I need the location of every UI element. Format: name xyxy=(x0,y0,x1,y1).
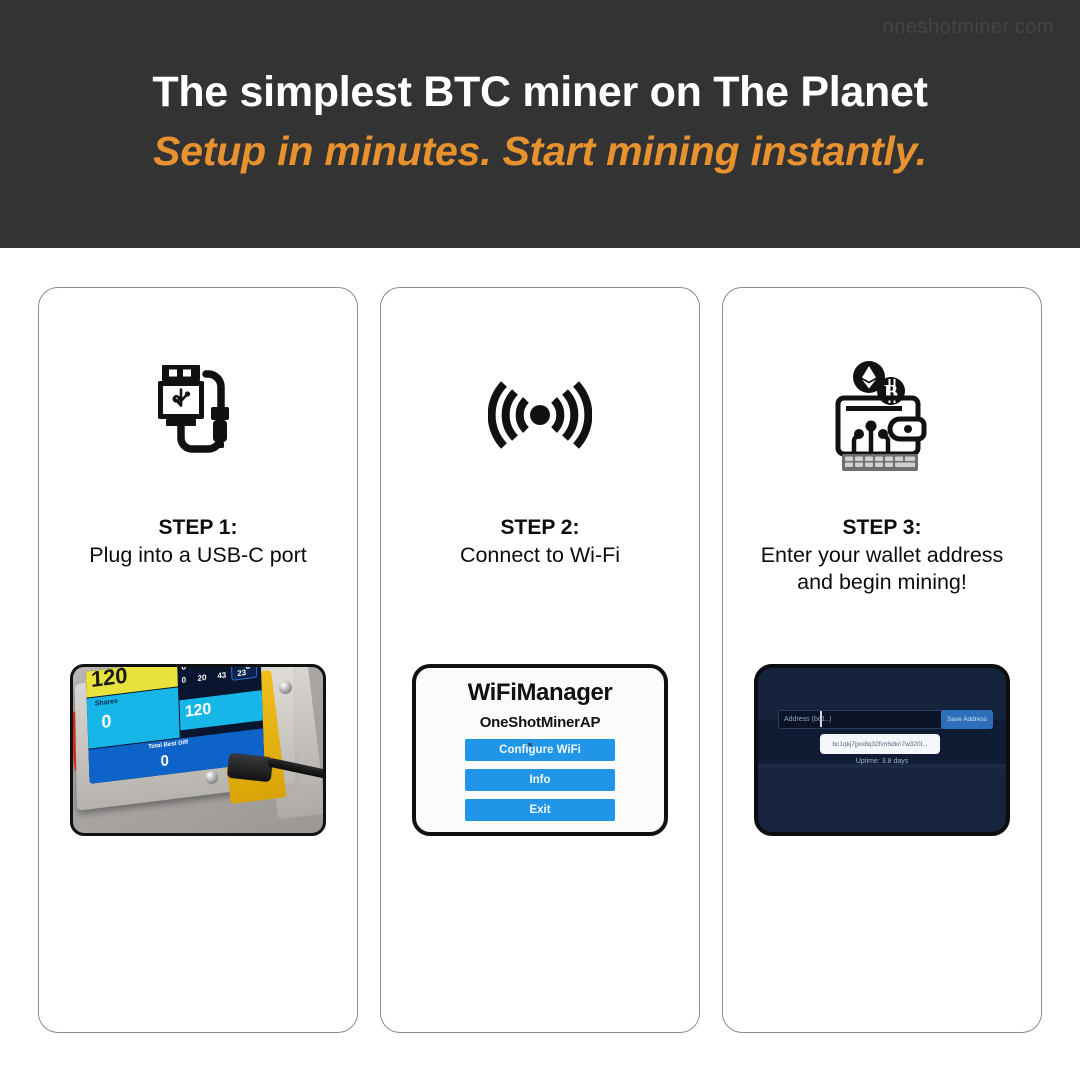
crypto-wallet-keyboard-icon: B xyxy=(828,360,936,470)
info-button[interactable]: Info xyxy=(465,769,615,791)
info-label: Info xyxy=(529,774,550,786)
configure-wifi-label: Configure WiFi xyxy=(499,744,581,756)
lcd-hashrate-value: 120 xyxy=(91,664,128,693)
lcd-counter-2: 0 xyxy=(182,675,187,685)
lcd-bestdiff-top: 120 xyxy=(185,700,212,721)
lcd-counter-3: 20 xyxy=(197,673,206,683)
step-1-screenshot-wrap: 120 0 13 0 20 43 23 Shares 0 120 Total B… xyxy=(39,664,357,836)
wifi-broadcast-icon xyxy=(488,360,592,470)
usb-c-plug xyxy=(227,753,273,782)
wallet-address-input[interactable]: Address (bc1..) xyxy=(778,710,948,729)
lcd-counter-0: 0 xyxy=(181,664,186,672)
step-2-description: Connect to Wi-Fi xyxy=(415,542,665,570)
address-autocomplete-tooltip[interactable]: bc1qkj7jjxv8q32fvn6dkn7w320l... xyxy=(820,734,940,754)
step-3-description: Enter your wallet address and begin mini… xyxy=(757,542,1007,597)
steps-container: STEP 1: Plug into a USB-C port xyxy=(38,287,1042,1033)
step-card-1: STEP 1: Plug into a USB-C port xyxy=(38,287,358,1033)
uptime-status: Uptime: 3.8 days xyxy=(758,758,1006,765)
lcd-counter-4: 43 xyxy=(217,670,226,680)
address-suggestion-text: bc1qkj7jjxv8q32fvn6dkn7w320l... xyxy=(832,741,927,748)
keyboard-icon xyxy=(842,454,918,471)
save-address-button[interactable]: Save Address xyxy=(941,710,993,729)
miner-device-photo: 120 0 13 0 20 43 23 Shares 0 120 Total B… xyxy=(70,664,326,836)
text-caret-icon xyxy=(820,711,822,727)
page-subtitle: Setup in minutes. Start mining instantly… xyxy=(0,128,1080,175)
lcd-counter-1: 13 xyxy=(209,664,218,666)
step-2-text: STEP 2: Connect to Wi-Fi xyxy=(415,515,665,569)
device-screw-top xyxy=(279,681,292,694)
step-1-description: Plug into a USB-C port xyxy=(73,542,323,570)
step-3-label: STEP 3: xyxy=(757,515,1007,542)
wifimanager-title: WiFiManager xyxy=(468,679,613,707)
wallet-address-value: Address (bc1..) xyxy=(784,716,831,723)
configure-wifi-button[interactable]: Configure WiFi xyxy=(465,739,615,761)
step-1-label: STEP 1: xyxy=(73,515,323,542)
save-address-label: Save Address xyxy=(947,716,987,723)
lcd-status-value: 0 xyxy=(245,664,251,672)
lcd-bestdiff-value: 0 xyxy=(160,752,169,770)
step-3-screenshot-wrap: Address (bc1..) Save Address bc1qkj7jjxv… xyxy=(723,664,1041,836)
step-2-label: STEP 2: xyxy=(415,515,665,542)
site-watermark: oneshotminer.com xyxy=(883,16,1054,39)
header-banner: oneshotminer.com The simplest BTC miner … xyxy=(0,0,1080,248)
dashboard-body xyxy=(758,769,1006,836)
exit-label: Exit xyxy=(529,804,550,816)
step-card-2: STEP 2: Connect to Wi-Fi WiFiManager One… xyxy=(380,287,700,1033)
wifi-manager-screenshot: WiFiManager OneShotMinerAP Configure WiF… xyxy=(412,664,668,836)
wifimanager-ap-name: OneShotMinerAP xyxy=(480,714,601,731)
miner-dashboard-screenshot: Address (bc1..) Save Address bc1qkj7jjxv… xyxy=(754,664,1010,836)
poster-root: oneshotminer.com The simplest BTC miner … xyxy=(0,0,1080,1080)
lcd-shares-value: 0 xyxy=(101,711,112,733)
step-2-screenshot-wrap: WiFiManager OneShotMinerAP Configure WiF… xyxy=(381,664,699,836)
page-title: The simplest BTC miner on The Planet xyxy=(0,68,1080,117)
step-card-3: B xyxy=(722,287,1042,1033)
device-screw-bottom xyxy=(205,771,218,784)
step-1-text: STEP 1: Plug into a USB-C port xyxy=(73,515,323,569)
step-3-text: STEP 3: Enter your wallet address and be… xyxy=(757,515,1007,597)
usb-cable-icon xyxy=(150,360,246,470)
bitcoin-coin-icon: B xyxy=(877,377,905,405)
exit-button[interactable]: Exit xyxy=(465,799,615,821)
